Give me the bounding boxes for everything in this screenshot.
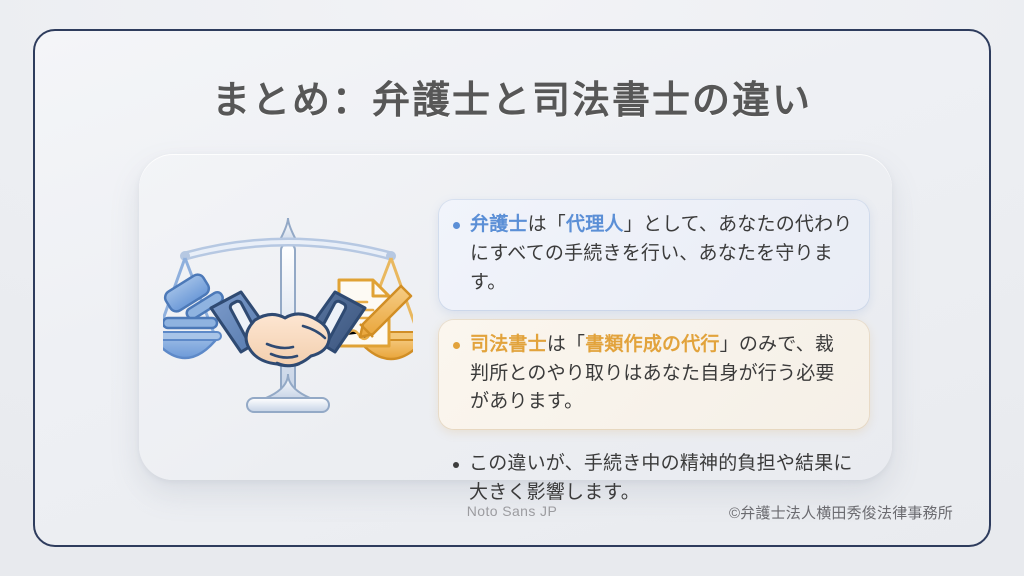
slide-frame: まとめ：弁護士と司法書士の違い bbox=[33, 29, 991, 547]
bullet-dot-icon bbox=[453, 342, 460, 349]
gavel-icon bbox=[163, 272, 225, 328]
bullet-dot-icon bbox=[453, 222, 460, 229]
bullet-dot-icon bbox=[453, 462, 459, 468]
highlight-term: 司法書士 bbox=[470, 334, 547, 355]
bullet-text: この違いが、手続き中の精神的負担や結果に大きく影響します。 bbox=[469, 450, 853, 508]
highlight-term: 代理人 bbox=[566, 214, 624, 235]
bullet-text-segment: は「 bbox=[547, 334, 585, 355]
balance-scale-handshake-illustration bbox=[163, 196, 413, 440]
bullet-text: 司法書士は「書類作成の代行」のみで、裁判所とのやり取りはあなた自身が行う必要があ… bbox=[470, 331, 853, 418]
bullet-text-segment: は「 bbox=[528, 214, 566, 235]
bullet-list: 弁護士は「代理人」として、あなたの代わりにすべての手続きを行い、あなたを守ります… bbox=[439, 200, 869, 530]
highlight-term: 書類作成の代行 bbox=[585, 334, 719, 355]
bullet-text: 弁護士は「代理人」として、あなたの代わりにすべての手続きを行い、あなたを守ります… bbox=[470, 211, 853, 298]
copyright-notice: ©弁護士法人横田秀俊法律事務所 bbox=[729, 502, 953, 523]
bullet-text-segment: この違いが、手続き中の精神的負担や結果に大きく影響します。 bbox=[469, 453, 853, 503]
list-item: 弁護士は「代理人」として、あなたの代わりにすべての手続きを行い、あなたを守ります… bbox=[439, 200, 869, 310]
content-card: 弁護士は「代理人」として、あなたの代わりにすべての手続きを行い、あなたを守ります… bbox=[139, 154, 892, 480]
highlight-term: 弁護士 bbox=[470, 214, 528, 235]
slide-footer: Noto Sans JP ©弁護士法人横田秀俊法律事務所 bbox=[35, 503, 989, 525]
page-title: まとめ：弁護士と司法書士の違い bbox=[35, 69, 989, 124]
list-item: 司法書士は「書類作成の代行」のみで、裁判所とのやり取りはあなた自身が行う必要があ… bbox=[439, 320, 869, 430]
